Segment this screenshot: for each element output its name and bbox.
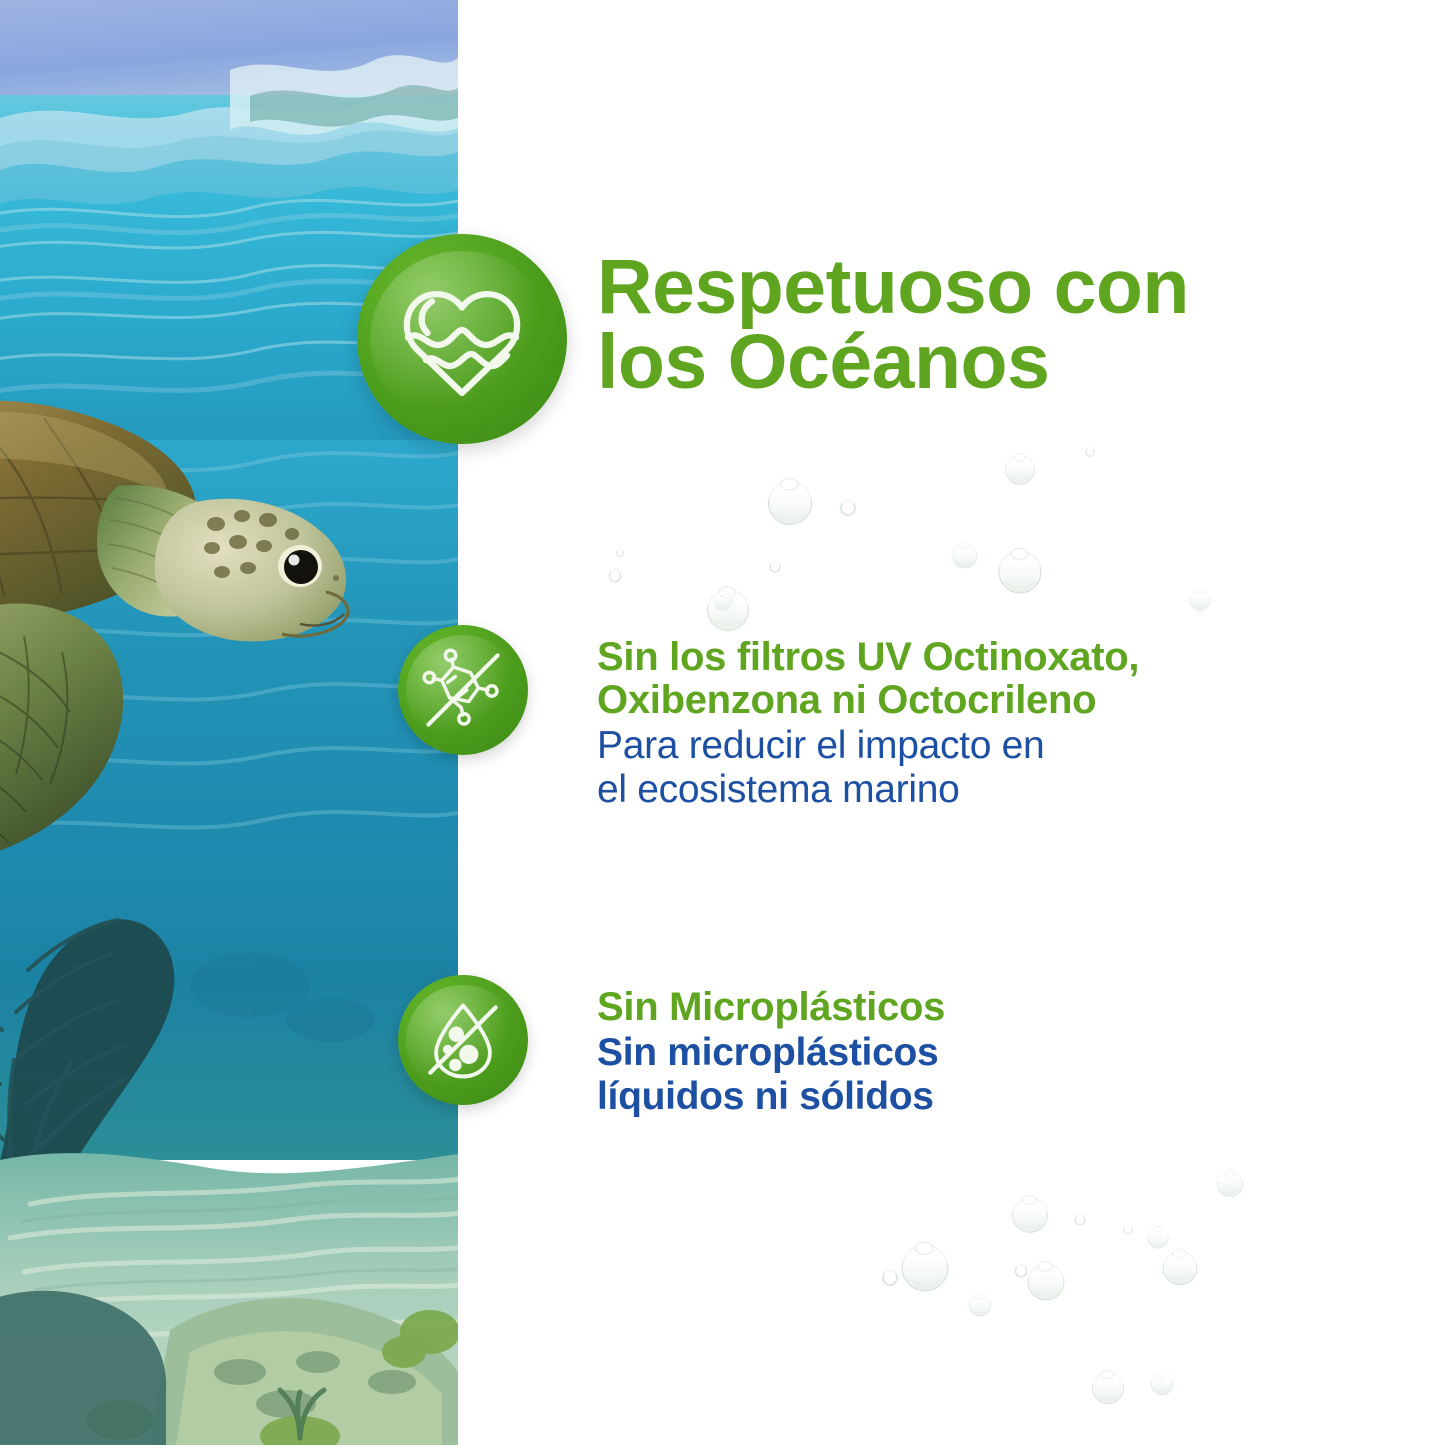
claim-block-no-uv-filters: Sin los filtros UV Octinoxato, Oxibenzon… [597, 636, 1357, 812]
desc-line-2: el ecosistema marino [597, 768, 1357, 812]
sea-turtle-underwater-photo [0, 0, 458, 1445]
claim-line-1: Sin Microplásticos [597, 986, 1217, 1029]
claim-line-2: Oxibenzona ni Octocrileno [597, 679, 1357, 722]
droplet-no-microplastics-icon [415, 992, 511, 1088]
headline-line-2: los Océanos [597, 325, 1387, 400]
photo-artwork [0, 0, 458, 1445]
ocean-friendly-infographic: Respetuoso con los Océanos Sin los filtr… [0, 0, 1445, 1445]
microplastic-beads [443, 1027, 479, 1072]
badge-no-microplastics [398, 975, 528, 1105]
claim-heading: Sin Microplásticos [597, 986, 1217, 1029]
claim-block-no-microplastics: Sin Microplásticos Sin microplásticos lí… [597, 986, 1217, 1119]
page-title: Respetuoso con los Océanos [597, 250, 1387, 399]
desc-line-1: Para reducir el impacto en [597, 724, 1357, 768]
headline-line-1: Respetuoso con [597, 250, 1387, 325]
claim-line-1: Sin los filtros UV Octinoxato, [597, 636, 1357, 679]
badge-no-uv-filters [398, 625, 528, 755]
heart-waves-icon [387, 264, 537, 414]
claim-heading: Sin los filtros UV Octinoxato, Oxibenzon… [597, 636, 1357, 722]
content-column: Respetuoso con los Océanos Sin los filtr… [597, 0, 1427, 1445]
desc-line-1: Sin microplásticos [597, 1031, 1217, 1075]
claim-description: Para reducir el impacto en el ecosistema… [597, 724, 1357, 812]
desc-line-2: líquidos ni sólidos [597, 1075, 1217, 1119]
molecule-no-uv-filter-icon [415, 642, 511, 738]
claim-description: Sin microplásticos líquidos ni sólidos [597, 1031, 1217, 1119]
badge-ocean-friendly [357, 234, 567, 444]
